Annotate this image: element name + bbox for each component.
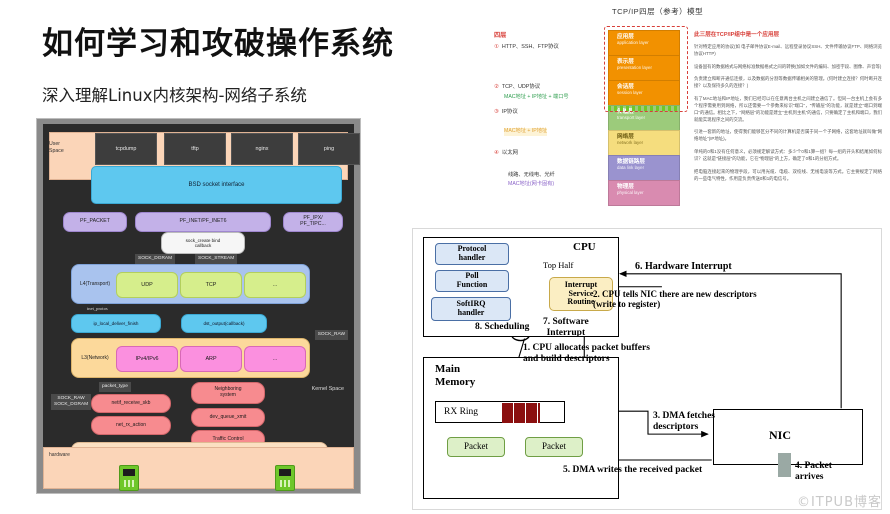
- osi-layer-datalink-en: data link layer: [617, 165, 679, 170]
- step-2-label: 2. CPU tells NIC there are new descripto…: [593, 289, 757, 310]
- osi-layer-datalink: 数据链路层 data link layer: [608, 155, 680, 181]
- step-7-software-interrupt-label: 7. Software Interrupt: [543, 317, 589, 339]
- osi-paragraph-4: 有了MAC地址和IP地址，我们已经可以在任意两台主机之间建立通信了。但同一台主机…: [694, 96, 882, 123]
- osi-note-2-text: TCP、UDP协议: [502, 84, 540, 92]
- l3-ipv4-ipv6: IPv4/IPv6: [116, 346, 178, 372]
- watermark: ©ITPUB博客: [797, 491, 882, 510]
- kernel-diagram-canvas: User Space tcpdump tftp nginx ping BSD s…: [43, 124, 354, 465]
- osi-layer-stack: 应用层 application layer 表示层 presentation l…: [608, 30, 680, 205]
- pf-inet: PF_INET/PF_INET6: [135, 212, 271, 232]
- osi-layer-presentation: 表示层 presentation layer: [608, 55, 680, 81]
- page-subtitle: 深入理解Linux内核架构-网络子系统: [42, 82, 307, 106]
- osi-paragraph-3: 负责建立和断开通信连接，以及数据的分割等数据传输相关的管理。(何时建立连接？何时…: [694, 76, 882, 90]
- nic-dma-packet-flow-diagram: CPU Top Half Protocol handler Poll Funct…: [412, 228, 882, 510]
- step-1-label: 1. CPU allocates packet buffers and buil…: [523, 343, 650, 365]
- hardware-band: hardware: [43, 447, 354, 489]
- bsd-socket-interface: BSD socket interface: [91, 166, 342, 204]
- osi-group-ribbon: [608, 106, 680, 111]
- poll-function-box: Poll Function: [435, 270, 509, 292]
- osi-note-1: ① HTTP、SSH、FTP协议: [494, 44, 606, 52]
- osi-note-4: ④ 以太网: [494, 150, 606, 158]
- osi-layer-physical-en: physical layer: [617, 190, 679, 195]
- tag-sock-raw-dgram: SOCK_RAW SOCK_DGRAM: [51, 394, 91, 410]
- neighboring-system: Neighboring system: [191, 382, 265, 404]
- packet-box-2: Packet: [525, 437, 583, 457]
- nic-label: NIC: [769, 429, 791, 443]
- tag-sock-dgram: SOCK_DGRAM: [135, 254, 175, 264]
- app-tftp: tftp: [164, 133, 226, 165]
- osi-notes-heading: 四层: [494, 30, 606, 39]
- osi-right-heading: 此三层在TCP/IP组中是一个应用层: [694, 30, 882, 38]
- hardware-label: hardware: [49, 452, 70, 458]
- osi-layer-application: 应用层 application layer: [608, 30, 680, 56]
- kernel-network-stack-diagram: User Space tcpdump tftp nginx ping BSD s…: [36, 118, 361, 494]
- main-memory-label: Main Memory: [435, 363, 475, 388]
- tag-packet-type: packet_type: [99, 382, 131, 392]
- osi-layer-physical: 物理层 physical layer: [608, 180, 680, 206]
- l4-tcp: TCP: [180, 272, 242, 298]
- app-ping: ping: [298, 133, 360, 165]
- osi-note-footer: 线路、无线电、光纤: [508, 172, 606, 180]
- l4-label: L4(Transport): [78, 281, 112, 287]
- osi-note-2: ② TCP、UDP协议: [494, 84, 606, 92]
- pf-ipx-tipc: PF_IPX/ PF_TIPC...: [283, 212, 343, 232]
- top-half-label: Top Half: [543, 261, 573, 271]
- pf-packet: PF_PACKET: [63, 212, 127, 232]
- app-nginx: nginx: [231, 133, 293, 165]
- osi-notes-column: 四层 ① HTTP、SSH、FTP协议 ② TCP、UDP协议 MAC地址 + …: [494, 30, 606, 189]
- osi-note-2-sub: MAC地址 + IP地址 + 端口号: [504, 94, 606, 102]
- osi-note-3: ③ IP协议: [494, 109, 606, 117]
- step-3-label: 3. DMA fetches descriptors: [653, 411, 715, 433]
- protocol-handler-box: Protocol handler: [435, 243, 509, 265]
- kernel-space-label: Kernel Space: [312, 386, 344, 392]
- nic-chip-right: [275, 465, 295, 491]
- osi-paragraph-1: 针对特定应用的协议(如 电子邮件协议E-mail、远程登录协议SSH、文件传输协…: [694, 44, 882, 58]
- page-title: 如何学习和攻破操作系统: [42, 18, 394, 63]
- packet-box-1: Packet: [447, 437, 505, 457]
- rx-ring-box: RX Ring: [435, 401, 565, 423]
- netif-receive-skb: netif_receive_skb: [91, 394, 171, 413]
- osi-note-1-num: ①: [494, 44, 499, 52]
- osi-paragraph-7: 把电脑连接起来的物理手段，可以用光缆、电缆、双绞线、无线电波等方式。它主要规定了…: [694, 169, 882, 183]
- inet-protos-label: inet_protos: [87, 306, 108, 311]
- net-rx-action: net_rx_action: [91, 416, 171, 435]
- step-4-label: 4. Packet arrives: [795, 461, 832, 483]
- osi-layer-transport-en: transport layer: [617, 115, 679, 120]
- osi-paragraph-2: 设备固有的数据格式与网络标准数据格式之间的转换(加如文件的编码、加密字段、图像、…: [694, 64, 882, 71]
- osi-note-2-num: ②: [494, 84, 499, 92]
- step-5-label: 5. DMA writes the received packet: [563, 465, 702, 476]
- nic-chip-left: [119, 465, 139, 491]
- osi-layer-presentation-en: presentation layer: [617, 65, 679, 70]
- osi-note-footer-sub: MAC地址(网卡固有): [508, 181, 606, 189]
- l3-arp: ARP: [180, 346, 242, 372]
- osi-note-3-num: ③: [494, 109, 499, 117]
- l4-transport-layer: L4(Transport) UDP TCP ...: [71, 264, 310, 304]
- osi-layer-network-en: network layer: [617, 140, 679, 145]
- osi-layer-session: 会话层 session layer: [608, 80, 680, 106]
- l3-network-layer: L3(Network) IPv4/IPv6 ARP ...: [71, 338, 310, 378]
- sock-create-bind-callback: sock_create bind callback: [161, 232, 245, 254]
- step-6-label: 6. Hardware Interrupt: [635, 261, 732, 273]
- l3-other: ...: [244, 346, 306, 372]
- osi-paragraph-5: 引进一套新的地址，使得我们能够区分不同的计算机是否属于同一个子网络，这套地址就叫…: [694, 129, 882, 143]
- tag-sock-stream: SOCK_STREAM: [195, 254, 237, 264]
- l4-udp: UDP: [116, 272, 178, 298]
- step-8-scheduling-label: 8. Scheduling: [475, 322, 529, 333]
- app-tcpdump: tcpdump: [95, 133, 157, 165]
- l4-other: ...: [244, 272, 306, 298]
- dst-output-callback: dst_output(callback): [181, 314, 267, 333]
- osi-layer-session-en: session layer: [617, 90, 679, 95]
- osi-layer-network: 网络层 network layer: [608, 130, 680, 156]
- osi-note-4-text: 以太网: [502, 150, 518, 158]
- softirq-handler-box: SoftIRQ handler: [431, 297, 511, 321]
- rx-ring-descriptors: [502, 403, 540, 423]
- osi-model-panel: TCP/IP四层（参考）模型 四层 ① HTTP、SSH、FTP协议 ② TCP…: [412, 2, 888, 224]
- osi-note-3-sub: MAC地址 + IP地址: [504, 128, 547, 136]
- nic-port-icon: [778, 453, 791, 477]
- osi-note-1-text: HTTP、SSH、FTP协议: [502, 44, 559, 52]
- user-space-label: User Space: [49, 141, 87, 154]
- tag-sock-raw: SOCK_RAW: [315, 330, 348, 340]
- slide-root: 如何学习和攻破操作系统 深入理解Linux内核架构-网络子系统 User Spa…: [0, 0, 890, 514]
- osi-layer-application-en: application layer: [617, 40, 679, 45]
- osi-paragraph-6: 单纯的0和1没有任何意义，必须规定解读方式：多少个0和1算一组？每一组的开头和结…: [694, 149, 882, 163]
- cpu-title: CPU: [573, 241, 596, 254]
- l3-label: L3(Network): [78, 355, 112, 361]
- osi-panel-title: TCP/IP四层（参考）模型: [612, 6, 703, 17]
- osi-note-3-text: IP协议: [502, 109, 518, 117]
- rx-ring-label: RX Ring: [444, 407, 478, 417]
- osi-explanation-column: 此三层在TCP/IP组中是一个应用层 针对特定应用的协议(如 电子邮件协议E-m…: [694, 30, 882, 188]
- osi-note-4-num: ④: [494, 150, 499, 158]
- ip-local-deliver-finish: ip_local_deliver_finish: [71, 314, 161, 333]
- dev-queue-xmit: dev_queue_xmit: [191, 408, 265, 427]
